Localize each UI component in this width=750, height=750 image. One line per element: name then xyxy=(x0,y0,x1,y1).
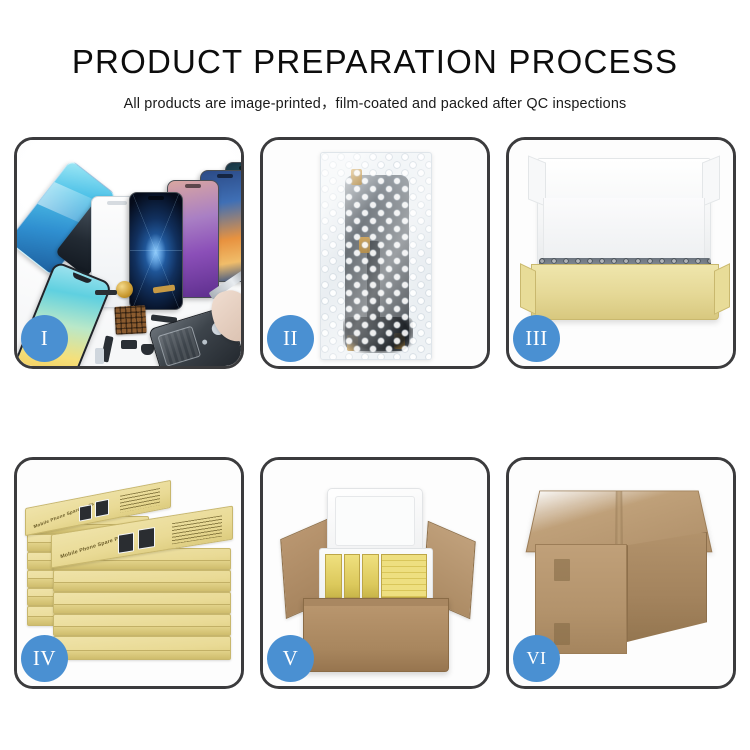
panel-sealed-shipping-carton[interactable]: VI xyxy=(506,457,736,689)
box-item xyxy=(53,614,231,636)
header: PRODUCT PREPARATION PROCESS All products… xyxy=(0,0,750,113)
yellow-box-item xyxy=(362,554,379,598)
panel-carton-with-foam[interactable]: V xyxy=(260,457,490,689)
small-module-icon xyxy=(121,340,137,349)
panel-phone-parts-overview[interactable]: I xyxy=(14,137,244,369)
yellow-boxes-row xyxy=(325,554,427,598)
panel-badge-5: V xyxy=(267,635,314,682)
carton-top-seam xyxy=(615,491,623,551)
yellow-box-item xyxy=(344,554,361,598)
panel-badge-1: I xyxy=(21,315,68,362)
box-item xyxy=(53,570,231,592)
page-subtitle: All products are image-printed，film-coat… xyxy=(0,80,750,113)
foam-lid-icon xyxy=(327,488,423,554)
yellow-box-item xyxy=(325,554,342,598)
box-item xyxy=(53,636,231,660)
box-item xyxy=(53,592,231,614)
tape-patch-icon xyxy=(554,623,570,645)
panel-bubble-wrapped-part[interactable]: II xyxy=(260,137,490,369)
process-panel-grid: I II xyxy=(14,137,736,689)
flex-cable-icon xyxy=(95,290,117,295)
yellow-box-stack xyxy=(381,554,427,598)
panel-badge-4: IV xyxy=(21,635,68,682)
carton-side-face xyxy=(627,532,707,642)
plastic-sheen xyxy=(321,153,431,359)
sim-tray-icon xyxy=(95,348,104,364)
bubble-wrap-bag xyxy=(320,152,432,360)
page-title: PRODUCT PREPARATION PROCESS xyxy=(0,0,750,80)
panel-badge-2: II xyxy=(267,315,314,362)
panel-stacked-retail-boxes[interactable]: Mobile Phone Spare Parts Mobile Phone Sp… xyxy=(14,457,244,689)
product-preparation-infographic: PRODUCT PREPARATION PROCESS All products… xyxy=(0,0,750,750)
carton-body xyxy=(303,598,449,672)
panel-badge-6: VI xyxy=(513,635,560,682)
ic-chip-grid-icon xyxy=(114,305,146,335)
tape-patch-icon xyxy=(554,559,570,581)
panel-badge-3: III xyxy=(513,315,560,362)
panel-open-mailer-box[interactable]: III xyxy=(506,137,736,369)
box-tray-icon xyxy=(531,264,719,320)
speaker-coil-icon xyxy=(116,281,133,298)
